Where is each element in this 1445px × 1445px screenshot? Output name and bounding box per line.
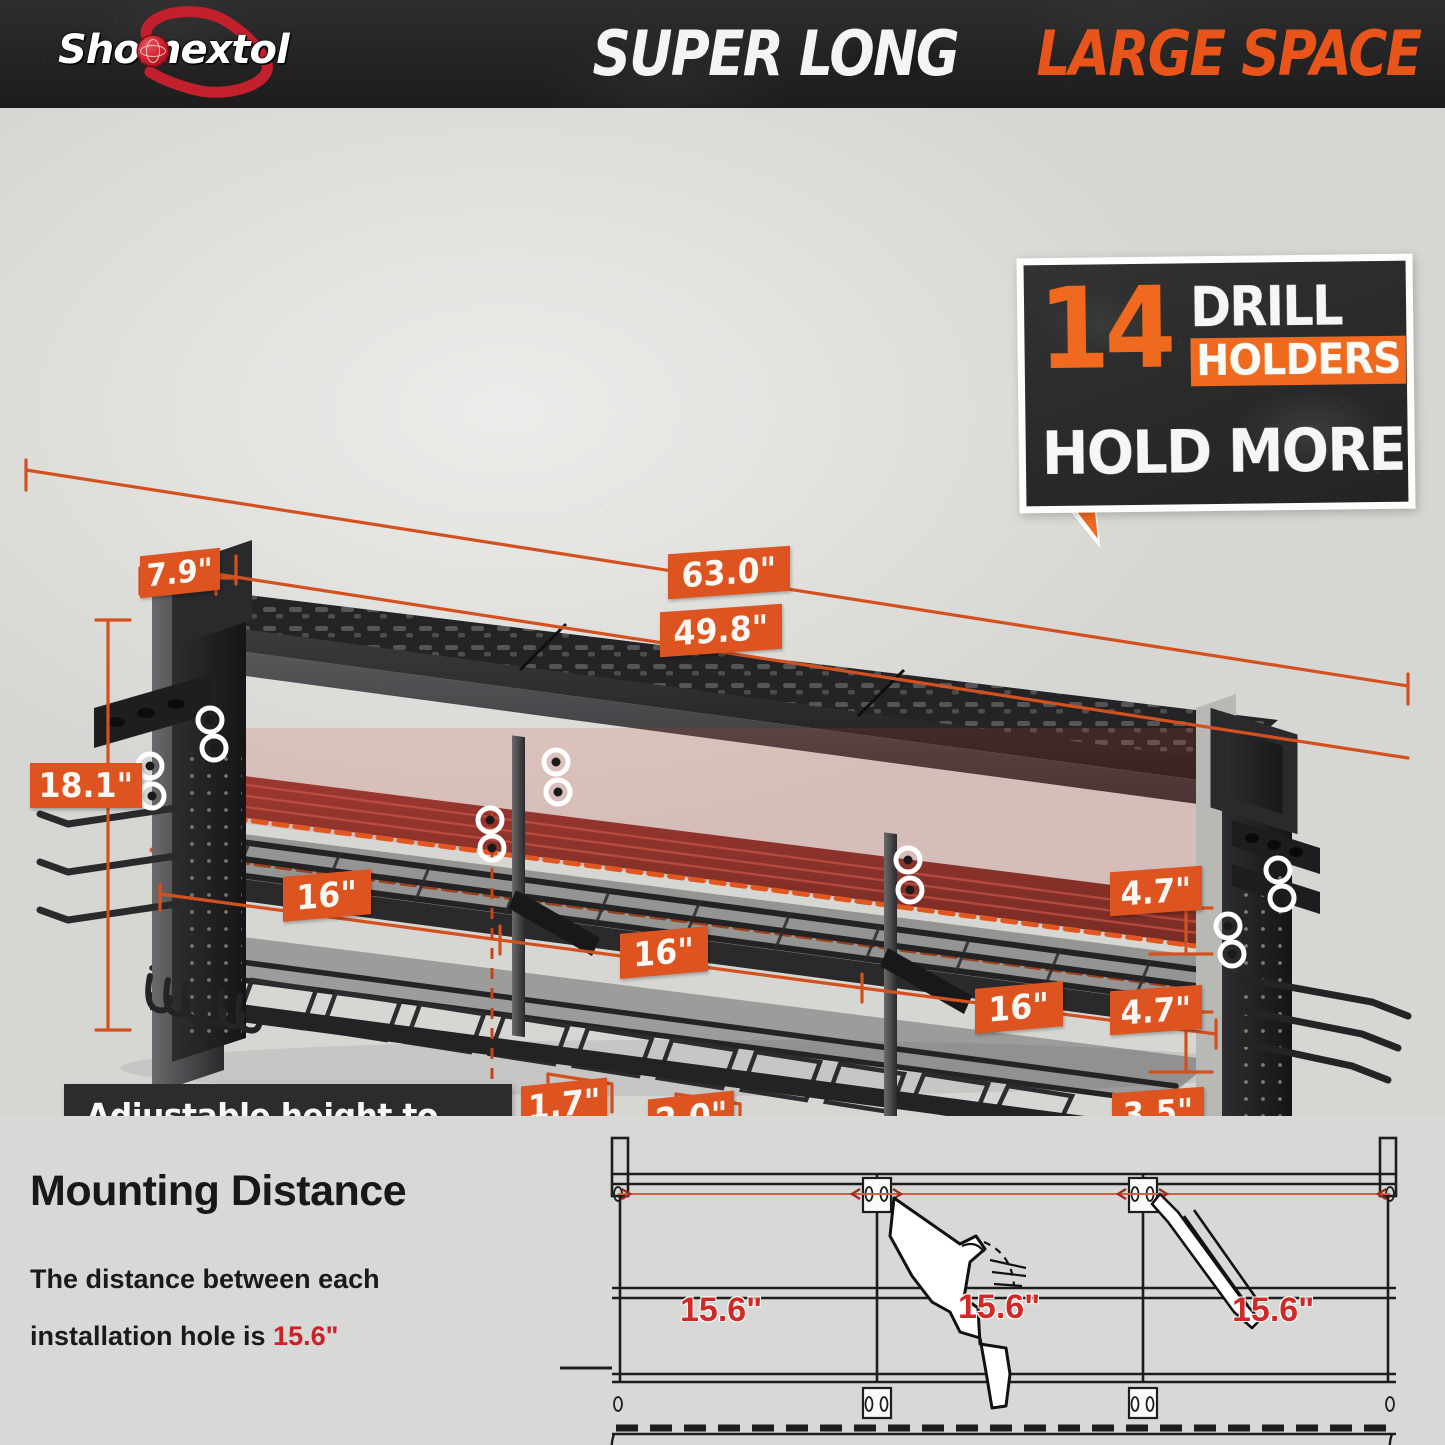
headline: SUPER LONG LARGE SPACE [470,8,1420,100]
dimension-chip-label: 1.7" [528,1084,600,1116]
product-photo-panel: 7.9"63.0"49.8"18.1"16"16"16"4.7"4.7"3.5"… [0,108,1445,1116]
hole-spacing-3: 15.6" [1232,1291,1314,1330]
badge-tagline: HOLD MORE [1041,420,1371,484]
dimension-chip-label: 18.1" [39,769,133,803]
rack-blueprint [560,1116,1445,1445]
dimension-chip-label: 4.7" [1121,872,1191,910]
dimension-chip-depth: 7.9" [140,548,220,598]
dimension-chip-span-2: 16" [620,926,708,979]
mounting-text-2: installation hole is [30,1321,273,1351]
badge-count: 14 [1038,278,1172,383]
hole-spacing-1: 15.6" [680,1291,762,1330]
globe-icon [138,36,168,66]
mounting-description: The distance between each installation h… [30,1251,460,1365]
dimension-chip-span-3: 16" [975,981,1063,1034]
adjustable-height-caption: Adjustable height to suit different use … [64,1084,512,1116]
brand-name: Shomextol [58,27,289,73]
headline-white: SUPER LONG [592,23,957,85]
dimension-chip-shelf-width: 49.8" [660,604,782,658]
dimension-chip-label: 4.7" [1121,991,1191,1029]
dimension-chip-gap-lower: 4.7" [1110,985,1202,1035]
dimension-chip-gap-upper: 4.7" [1110,866,1202,916]
headline-orange: LARGE SPACE [1036,23,1420,85]
dimension-chip-label: 16" [297,876,357,915]
mounting-text-1: The distance between each [30,1264,380,1294]
brand-logo: Shomextol [28,6,376,102]
dimension-chip-span-1: 16" [283,869,371,922]
mounting-value: 15.6" [273,1321,338,1351]
mounting-line-drawing: 15.6" 15.6" 15.6" [560,1116,1445,1445]
dimension-chip-label: 2.0" [655,1097,727,1116]
mounting-title: Mounting Distance [30,1167,406,1216]
drill-holders-badge: 14 DRILL HOLDERS HOLD MORE [1016,254,1415,514]
dimension-chip-label: 16" [989,988,1049,1027]
dimension-chip-label: 49.8" [674,610,768,651]
hole-spacing-2: 15.6" [958,1288,1040,1327]
dimension-chip-label: 7.9" [147,554,213,592]
infographic-page: Shomextol SUPER LONG LARGE SPACE [0,0,1445,1445]
dimension-chip-label: 3.5" [1123,1093,1193,1116]
header-banner: Shomextol SUPER LONG LARGE SPACE [0,0,1445,108]
dimension-chip-label: 16" [634,933,694,972]
caption-line-1: Adjustable height to [86,1095,474,1116]
badge-holders-label: HOLDERS [1190,336,1406,387]
dimension-chip-height: 18.1" [30,763,142,808]
badge-drill-label: DRILL [1190,279,1401,334]
dimension-chip-label: 63.0" [682,552,776,593]
dimension-chip-overall-width: 63.0" [668,546,790,600]
